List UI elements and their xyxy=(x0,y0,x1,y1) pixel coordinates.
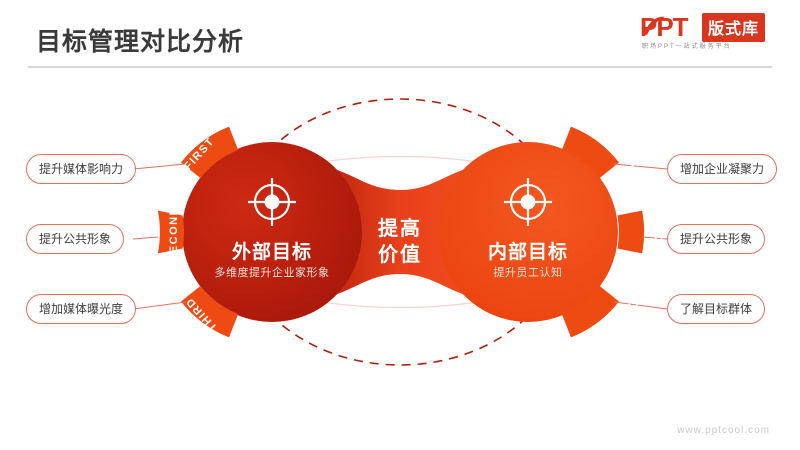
logo-tagline: 职场PPT一站式服务平台 xyxy=(642,41,732,50)
right-arc-segment-second[interactable] xyxy=(617,211,644,254)
left-node-circle[interactable] xyxy=(182,142,362,322)
left-leader-3 xyxy=(133,302,186,309)
center-label-line1: 提高 xyxy=(340,212,460,241)
left-leader-1 xyxy=(133,164,186,169)
right-node-circle[interactable] xyxy=(438,142,618,322)
left-node-subtitle: 多维度提升企业家形象 xyxy=(182,264,362,280)
header-divider xyxy=(28,66,772,68)
page-title: 目标管理对比分析 xyxy=(36,22,244,58)
left-callout-1[interactable]: 提升媒体影响力 xyxy=(26,154,136,184)
right-node-title: 内部目标 xyxy=(448,237,608,264)
left-arc-label-second: SECOND xyxy=(168,206,180,262)
right-callout-1[interactable]: 增加企业凝聚力 xyxy=(667,154,777,184)
left-leader-2 xyxy=(133,237,158,239)
left-callout-2[interactable]: 提升公共形象 xyxy=(26,224,124,254)
right-arc-label-second: SECOND xyxy=(652,206,664,262)
center-label-line2: 价值 xyxy=(340,238,460,267)
diagram-stage: 外部目标 多维度提升企业家形象 内部目标 提升员工认知 提高 价值 FIRST … xyxy=(0,72,800,432)
logo-badge: 版式库 xyxy=(702,13,765,42)
left-node-title: 外部目标 xyxy=(192,237,352,264)
right-callout-2[interactable]: 提升公共形象 xyxy=(667,224,765,254)
left-callout-3[interactable]: 增加媒体曝光度 xyxy=(26,294,136,324)
right-callout-3[interactable]: 了解目标群体 xyxy=(667,294,765,324)
brand-logo: PPT 版式库 职场PPT一站式服务平台 xyxy=(640,10,772,54)
right-node-subtitle: 提升员工认知 xyxy=(438,264,618,280)
logo-wordmark: PPT xyxy=(640,12,688,43)
